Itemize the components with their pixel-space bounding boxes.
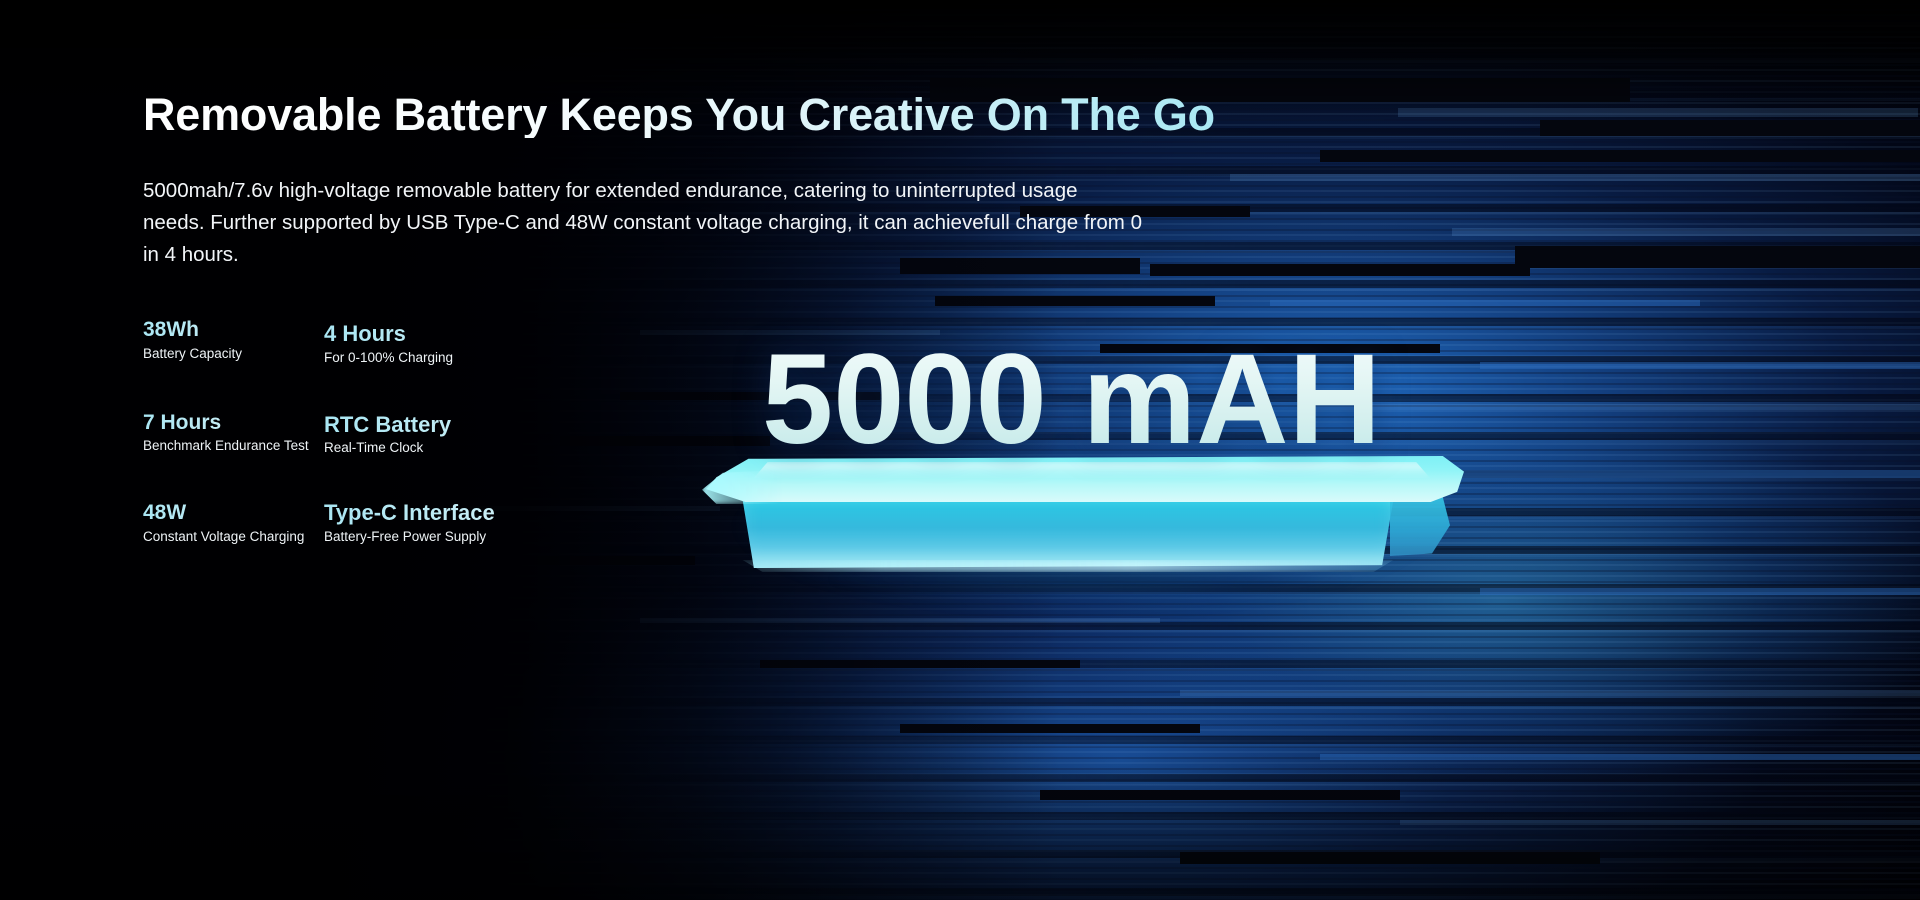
spec-row: 48W Constant Voltage Charging Type-C Int… [143, 501, 703, 546]
battery-bottom-rim [736, 560, 1400, 572]
spec-value: 38Wh [143, 318, 324, 343]
hero-capacity-number: 5000 mAH [762, 336, 1381, 464]
spec-row: 38Wh Battery Capacity 4 Hours For 0-100%… [143, 318, 703, 367]
spec-stat-grid: 38Wh Battery Capacity 4 Hours For 0-100%… [143, 318, 703, 546]
spec-label: Benchmark Endurance Test [143, 437, 324, 455]
spec-label: Constant Voltage Charging [143, 528, 324, 546]
spec-label: Battery Capacity [143, 345, 324, 363]
spec-value: 48W [143, 501, 324, 526]
spec-item-endurance: 7 Hours Benchmark Endurance Test [143, 411, 324, 455]
spec-value: Type-C Interface [324, 500, 654, 526]
spec-item-charging-time: 4 Hours For 0-100% Charging [324, 321, 654, 367]
page-title: Removable Battery Keeps You Creative On … [143, 91, 1215, 138]
spec-value: 4 Hours [324, 321, 654, 347]
spec-item-charging-power: 48W Constant Voltage Charging [143, 501, 324, 545]
spec-value: 7 Hours [143, 411, 324, 436]
spec-item-battery-capacity: 38Wh Battery Capacity [143, 318, 324, 362]
spec-label: Battery-Free Power Supply [324, 528, 654, 546]
spec-value: RTC Battery [324, 412, 654, 438]
product-feature-section: 5000 mAH Removable Battery Keeps You Cre… [0, 0, 1920, 900]
spec-label: For 0-100% Charging [324, 349, 654, 367]
spec-label: Real-Time Clock [324, 439, 654, 457]
section-description: 5000mah/7.6v high-voltage removable batt… [143, 175, 1143, 271]
battery-body [738, 496, 1398, 568]
spec-item-rtc-battery: RTC Battery Real-Time Clock [324, 412, 654, 458]
spec-row: 7 Hours Benchmark Endurance Test RTC Bat… [143, 411, 703, 458]
spec-item-type-c-interface: Type-C Interface Battery-Free Power Supp… [324, 500, 654, 546]
